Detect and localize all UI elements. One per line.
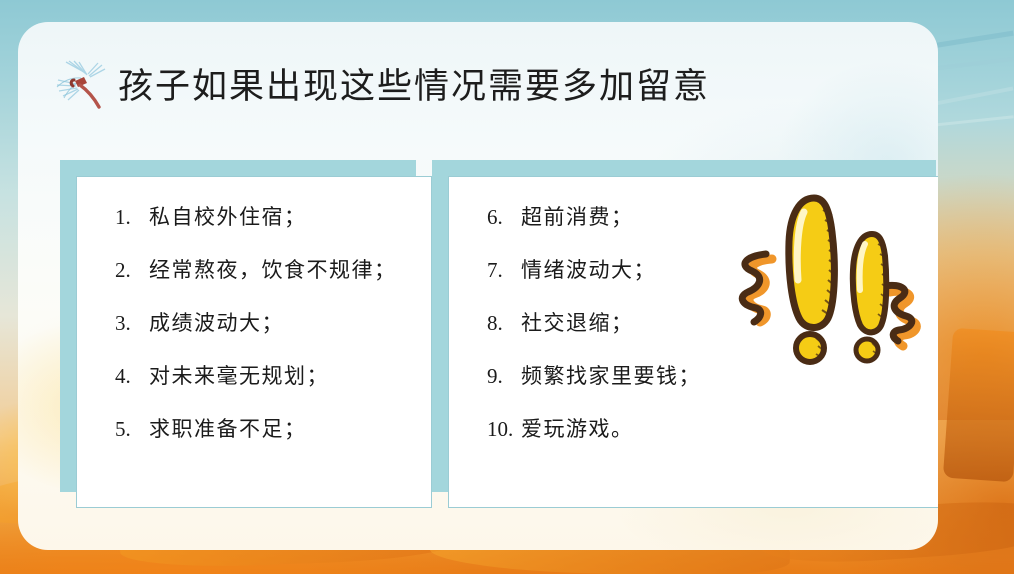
- list-item-number: 9.: [487, 366, 521, 387]
- list-item[interactable]: 8. 社交退缩；: [487, 313, 938, 334]
- slide-canvas: 孩子如果出现这些情况需要多加留意 1. 私自校外住宿； 2. 经常熬夜，饮食不规…: [0, 0, 1014, 574]
- list-item-label: 超前消费；: [521, 207, 634, 228]
- list-item-number: 1.: [115, 207, 149, 228]
- list-item-number: 10.: [487, 419, 521, 440]
- list-item-number: 7.: [487, 260, 521, 281]
- dragonfly-icon: [54, 60, 112, 112]
- list-item[interactable]: 1. 私自校外住宿；: [115, 207, 431, 228]
- card-body: 6. 超前消费； 7. 情绪波动大； 8. 社交退缩； 9. 频繁找家里要钱；: [448, 176, 938, 508]
- list-item-label: 成绩波动大；: [149, 313, 284, 334]
- list-card-right: 6. 超前消费； 7. 情绪波动大； 8. 社交退缩； 9. 频繁找家里要钱；: [432, 160, 938, 508]
- list-item-label: 爱玩游戏。: [521, 419, 634, 440]
- list-item[interactable]: 9. 频繁找家里要钱；: [487, 366, 938, 387]
- card-body: 1. 私自校外住宿； 2. 经常熬夜，饮食不规律； 3. 成绩波动大； 4. 对…: [76, 176, 432, 508]
- list-item-number: 5.: [115, 419, 149, 440]
- list-right: 6. 超前消费； 7. 情绪波动大； 8. 社交退缩； 9. 频繁找家里要钱；: [449, 177, 938, 440]
- list-item-label: 私自校外住宿；: [149, 207, 307, 228]
- list-item[interactable]: 4. 对未来毫无规划；: [115, 366, 431, 387]
- list-item-label: 社交退缩；: [521, 313, 634, 334]
- page-title: 孩子如果出现这些情况需要多加留意: [118, 69, 710, 104]
- list-item[interactable]: 7. 情绪波动大；: [487, 260, 938, 281]
- list-item-number: 6.: [487, 207, 521, 228]
- list-item-number: 2.: [115, 260, 149, 281]
- list-item-number: 8.: [487, 313, 521, 334]
- brush-stroke-decoration: [943, 328, 1014, 483]
- list-left: 1. 私自校外住宿； 2. 经常熬夜，饮食不规律； 3. 成绩波动大； 4. 对…: [77, 177, 431, 440]
- list-item[interactable]: 5. 求职准备不足；: [115, 419, 431, 440]
- list-item-number: 4.: [115, 366, 149, 387]
- list-item-label: 情绪波动大；: [521, 260, 656, 281]
- list-item-label: 经常熬夜，饮食不规律；: [149, 260, 397, 281]
- list-item[interactable]: 2. 经常熬夜，饮食不规律；: [115, 260, 431, 281]
- list-item[interactable]: 10. 爱玩游戏。: [487, 419, 938, 440]
- list-item[interactable]: 3. 成绩波动大；: [115, 313, 431, 334]
- list-item-label: 频繁找家里要钱；: [521, 366, 701, 387]
- list-item-label: 求职准备不足；: [149, 419, 307, 440]
- list-item[interactable]: 6. 超前消费；: [487, 207, 938, 228]
- list-item-number: 3.: [115, 313, 149, 334]
- list-card-left: 1. 私自校外住宿； 2. 经常熬夜，饮食不规律； 3. 成绩波动大； 4. 对…: [60, 160, 432, 508]
- title-row: 孩子如果出现这些情况需要多加留意: [54, 58, 710, 114]
- list-item-label: 对未来毫无规划；: [149, 366, 329, 387]
- content-panel: 孩子如果出现这些情况需要多加留意 1. 私自校外住宿； 2. 经常熬夜，饮食不规…: [18, 22, 938, 550]
